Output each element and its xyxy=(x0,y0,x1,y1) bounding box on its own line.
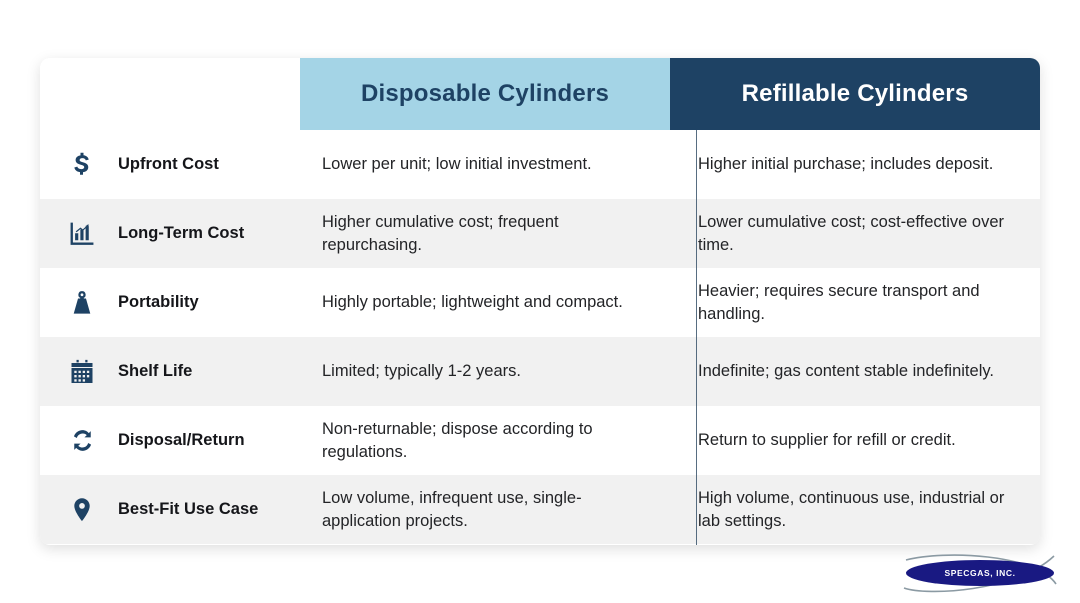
cell-disposable: Lower per unit; low initial investment. xyxy=(300,130,668,199)
calendar-icon xyxy=(62,352,102,392)
table-header-row: Disposable Cylinders Refillable Cylinder… xyxy=(40,58,1040,130)
row-label-cell: Shelf Life xyxy=(40,337,300,406)
comparison-table-card: Disposable Cylinders Refillable Cylinder… xyxy=(40,58,1040,545)
cell-refillable: Higher initial purchase; includes deposi… xyxy=(668,130,1040,199)
table-body: Upfront Cost Lower per unit; low initial… xyxy=(40,130,1040,544)
row-label-cell: Long-Term Cost xyxy=(40,199,300,268)
dollar-sign-icon xyxy=(62,145,102,185)
cell-disposable: Non-returnable; dispose according to reg… xyxy=(300,406,668,475)
cell-disposable: Higher cumulative cost; frequent repurch… xyxy=(300,199,668,268)
row-label: Shelf Life xyxy=(118,362,192,382)
company-logo: SPECGAS, INC. xyxy=(896,548,1064,598)
row-label: Portability xyxy=(118,293,199,313)
cell-disposable: Low volume, infrequent use, single-appli… xyxy=(300,475,668,544)
cell-refillable: Lower cumulative cost; cost-effective ov… xyxy=(668,199,1040,268)
header-column-disposable: Disposable Cylinders xyxy=(300,58,670,130)
row-label: Long-Term Cost xyxy=(118,224,244,244)
header-blank-cell xyxy=(40,58,300,130)
column-divider xyxy=(696,130,697,545)
row-label-cell: Best-Fit Use Case xyxy=(40,475,300,544)
row-label: Upfront Cost xyxy=(118,155,219,175)
cell-disposable: Limited; typically 1-2 years. xyxy=(300,337,668,406)
cell-refillable: High volume, continuous use, industrial … xyxy=(668,475,1040,544)
recycle-arrows-icon xyxy=(62,421,102,461)
row-label: Disposal/Return xyxy=(118,431,245,451)
table-row: Upfront Cost Lower per unit; low initial… xyxy=(40,130,1040,199)
row-label-cell: Upfront Cost xyxy=(40,130,300,199)
table-row: Shelf Life Limited; typically 1-2 years.… xyxy=(40,337,1040,406)
row-label-cell: Disposal/Return xyxy=(40,406,300,475)
header-column-refillable: Refillable Cylinders xyxy=(670,58,1040,130)
row-label-cell: Portability xyxy=(40,268,300,337)
weight-icon xyxy=(62,283,102,323)
cell-refillable: Indefinite; gas content stable indefinit… xyxy=(668,337,1040,406)
table-row: Best-Fit Use Case Low volume, infrequent… xyxy=(40,475,1040,544)
logo-graphic xyxy=(896,548,1064,598)
row-label: Best-Fit Use Case xyxy=(118,500,258,520)
table-row: Disposal/Return Non-returnable; dispose … xyxy=(40,406,1040,475)
cell-refillable: Heavier; requires secure transport and h… xyxy=(668,268,1040,337)
table-row: Long-Term Cost Higher cumulative cost; f… xyxy=(40,199,1040,268)
cell-disposable: Highly portable; lightweight and compact… xyxy=(300,268,668,337)
location-pin-icon xyxy=(62,490,102,530)
cell-refillable: Return to supplier for refill or credit. xyxy=(668,406,1040,475)
bar-chart-trend-icon xyxy=(62,214,102,254)
table-row: Portability Highly portable; lightweight… xyxy=(40,268,1040,337)
